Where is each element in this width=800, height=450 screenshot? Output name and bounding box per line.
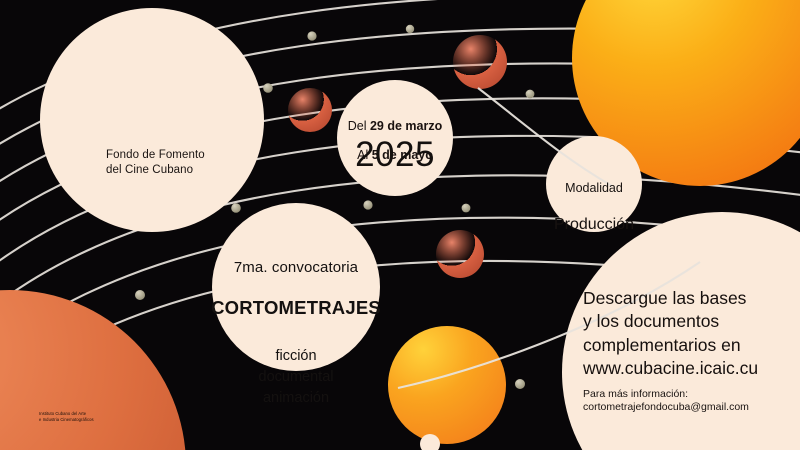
date-year: 2025 [336, 134, 454, 175]
icaic-logo-tagline: Instituto Cubano del Arte e Industria Ci… [39, 411, 129, 423]
date-from-lead: Del [348, 119, 370, 133]
date-from-line: Del 29 de marzo [336, 119, 454, 134]
poster-canvas: Fondo de Fomento del Cine Cubano Del 29 … [0, 0, 800, 450]
date-from-value: 29 de marzo [370, 119, 442, 133]
poster-artwork [0, 0, 800, 450]
planet-red-upper-right [453, 35, 507, 89]
convocatoria-category: CORTOMETRAJES [206, 297, 386, 319]
convocatoria-edition: 7ma. convocatoria [206, 259, 386, 277]
modalidad-label: Modalidad [533, 181, 655, 196]
ffcc-logo-tagline: Fondo de Fomento del Cine Cubano [106, 148, 256, 178]
planet-red-upper-left [288, 88, 332, 132]
convocatoria-block: 7ma. convocatoria CORTOMETRAJES ficción … [206, 240, 386, 428]
info-contact-label: Para más información: [583, 388, 798, 400]
modalidad-value: Producción [533, 216, 655, 235]
info-body: Descargue las bases y los documentos com… [583, 287, 798, 380]
planet-red-middle [436, 230, 484, 278]
info-email: cortometrajefondocuba@gmail.com [583, 401, 800, 413]
modalidad-block: Modalidad Producción [533, 162, 655, 253]
planet-orange-small [388, 326, 506, 444]
convocatoria-genres: ficción documental animación [206, 346, 386, 409]
bubble-brand [40, 8, 264, 232]
